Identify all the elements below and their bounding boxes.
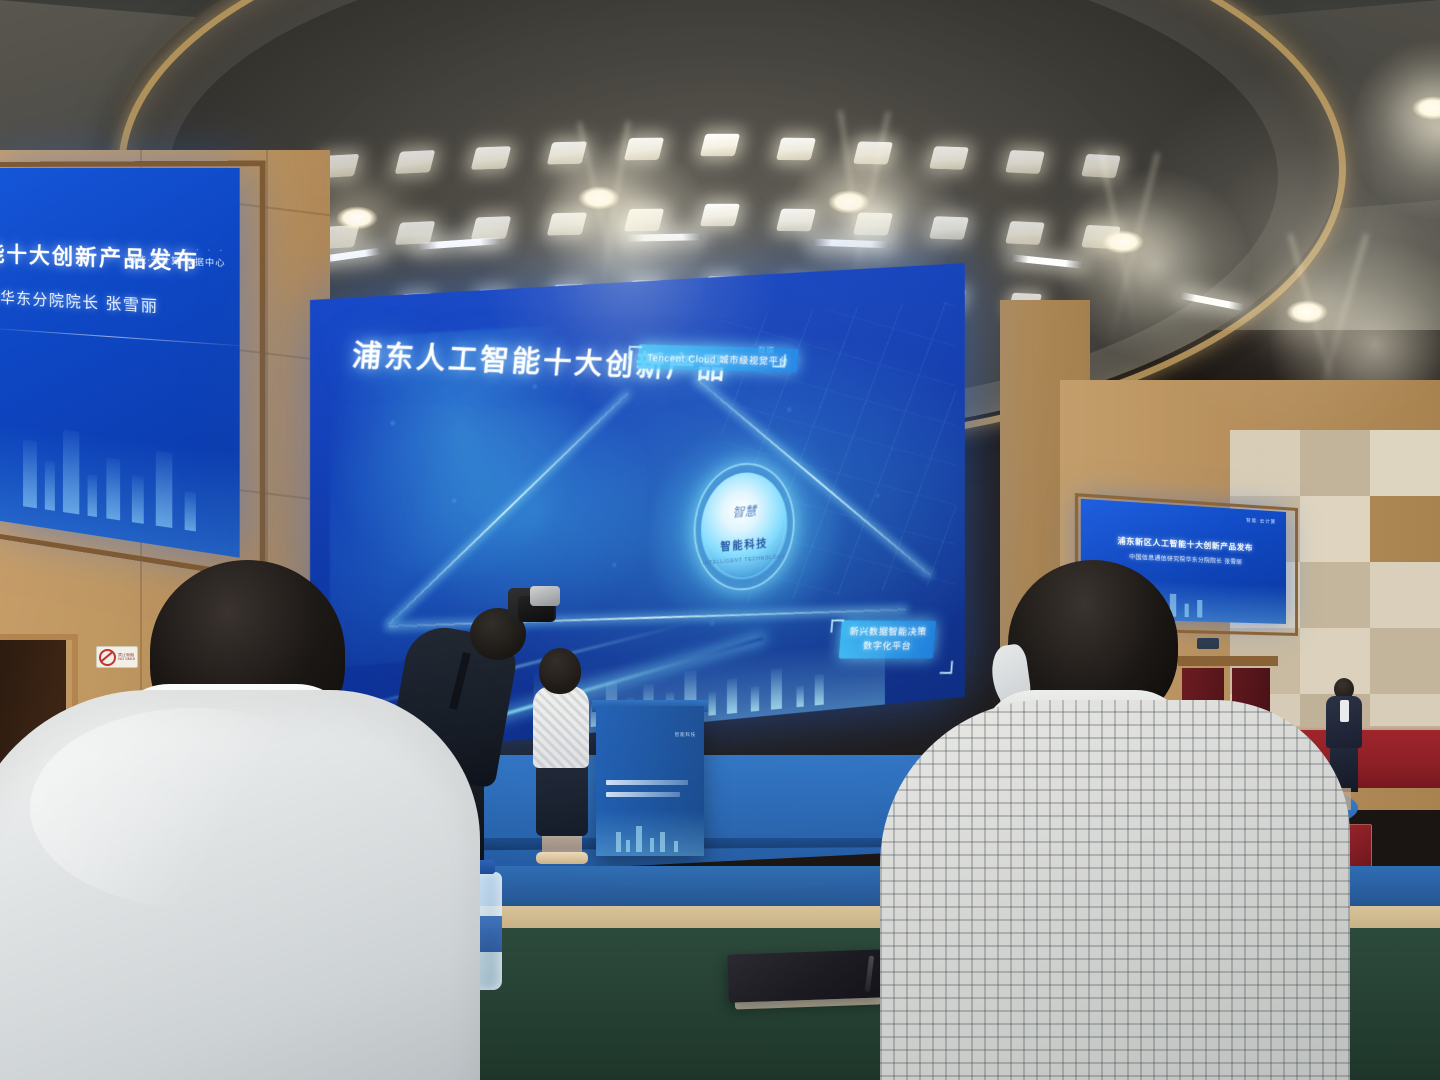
speaker-blouse	[533, 686, 589, 768]
usher-shirt	[1340, 700, 1349, 722]
ceiling-light	[471, 146, 512, 170]
speaker-head	[539, 648, 581, 694]
ceiling-light	[1005, 221, 1045, 245]
podium-text-line-2	[606, 792, 680, 797]
ceiling-light	[395, 221, 436, 245]
ceiling-light	[624, 138, 664, 161]
wall-speaker-box	[1197, 638, 1219, 649]
conference-hall-photo: 禁止吸烟 NO SMOKING · · · · 智能·云计算 数据中心 能十大创…	[0, 0, 1440, 1080]
door-right-header	[1178, 656, 1278, 666]
podium: 智能科技	[596, 706, 704, 856]
no-smoking-label: 禁止吸烟 NO SMOKING	[118, 653, 135, 662]
ceiling-light	[776, 208, 816, 231]
speaker-shoes	[536, 852, 588, 864]
audience-right-plaid-shirt	[880, 700, 1350, 1080]
bracket-br-left	[830, 619, 844, 632]
ceiling-light	[852, 142, 892, 165]
ceiling-light	[1005, 150, 1045, 174]
bracket-top-left	[628, 346, 642, 360]
ceiling-light	[929, 146, 969, 170]
podium-logo: 智能科技	[675, 732, 696, 738]
right-screen-logo: 智能·云计算	[1246, 518, 1276, 526]
speaker-skirt	[536, 764, 588, 836]
ceiling-light	[471, 216, 512, 240]
strip-light	[624, 233, 702, 241]
downlight	[336, 206, 378, 230]
ceiling-light	[700, 134, 740, 156]
ceiling-light	[395, 150, 436, 174]
leather-notebook[interactable]	[727, 949, 887, 1002]
downlight	[828, 190, 870, 214]
ceiling-light	[547, 212, 587, 235]
left-screen-title: 能十大创新产品发布	[0, 238, 240, 279]
no-smoking-sign: 禁止吸烟 NO SMOKING	[96, 646, 138, 668]
left-screen-subtitle: 院华东分院院长 张雪丽	[0, 286, 240, 323]
no-smoking-icon	[99, 649, 116, 666]
podium-text-line-1	[606, 780, 688, 785]
left-screen-divider	[0, 327, 240, 347]
ceiling-light	[624, 208, 664, 231]
ceiling-light	[700, 204, 740, 226]
downlight	[1286, 300, 1328, 324]
audience-left-shirt	[0, 690, 480, 1080]
bracket-br-right	[940, 661, 953, 674]
camera-lens-hood	[530, 586, 560, 606]
led-screen-left: · · · · 智能·云计算 数据中心 能十大创新产品发布 院华东分院院长 张雪…	[0, 168, 240, 558]
ceiling-light	[929, 216, 969, 240]
notebook-cover	[727, 949, 887, 1002]
ceiling-light	[776, 138, 816, 161]
podium-skyline-graphic	[596, 810, 704, 856]
core-orb: 智慧 智能科技 INTELLIGENT TECHNOLOGY	[694, 459, 795, 594]
ceiling-light	[547, 142, 587, 165]
bracket-top-right	[772, 354, 786, 368]
